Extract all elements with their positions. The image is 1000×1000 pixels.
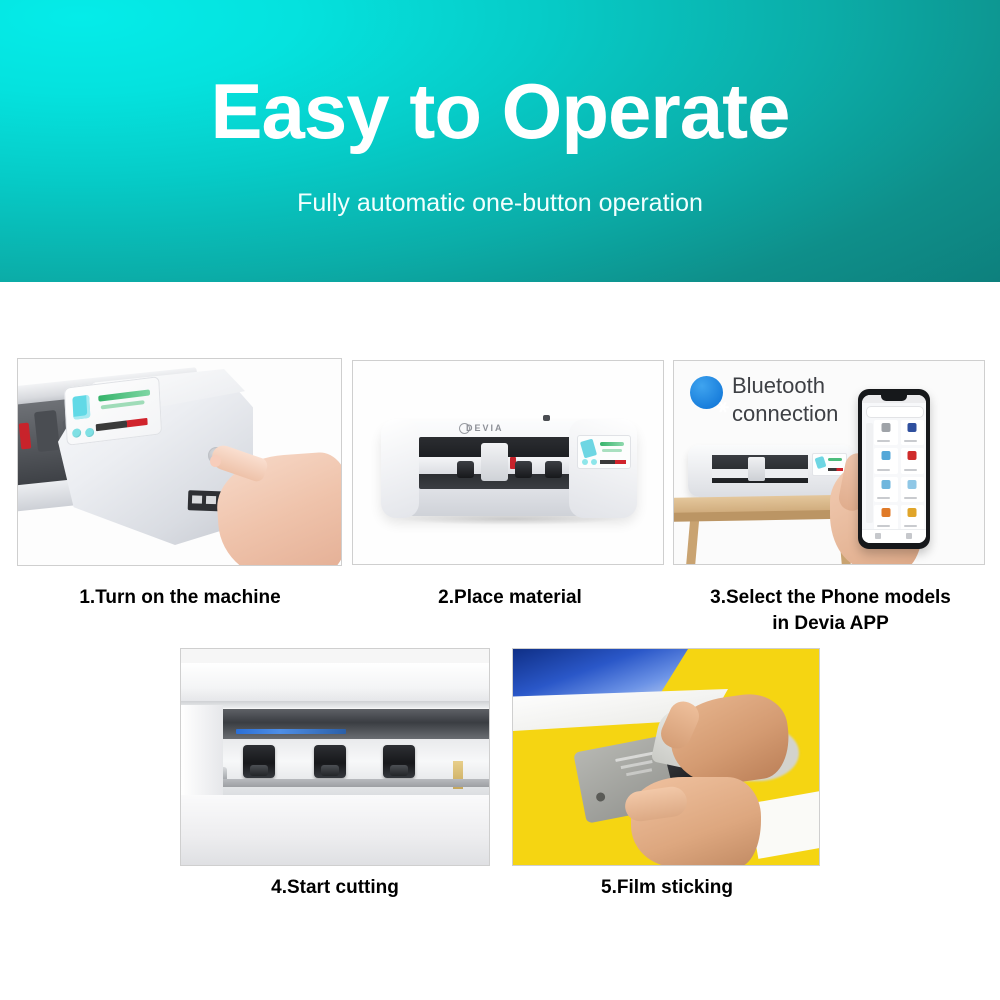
bluetooth-glyph: ⚹	[717, 397, 729, 418]
display-button-left	[582, 459, 588, 465]
step-image-5	[512, 648, 820, 866]
step-image-3: ⚹ Bluetooth connection	[673, 360, 985, 565]
roller-2	[515, 461, 532, 478]
phone-notch	[881, 395, 907, 401]
model-label	[877, 497, 890, 499]
pinch-roller-3	[383, 745, 415, 778]
machine-lower-face	[181, 795, 490, 865]
phone-model-grid	[874, 420, 924, 530]
scene-bluetooth-phone: ⚹ Bluetooth connection	[674, 361, 984, 564]
promo-page: Easy to Operate Fully automatic one-butt…	[0, 0, 1000, 1000]
top-knob	[543, 415, 550, 421]
step-image-2: DEVIA	[352, 360, 664, 565]
roller-core	[250, 765, 268, 776]
model-thumb-icon	[908, 451, 917, 460]
display-brand-label	[600, 460, 626, 464]
model-label	[877, 525, 890, 527]
app-nav-bar	[862, 529, 926, 543]
phone-icon	[815, 456, 827, 469]
roller-core	[321, 765, 339, 776]
model-cell	[901, 505, 925, 530]
roller-1	[457, 461, 474, 478]
pinch-roller-1	[243, 745, 275, 778]
display-brand-label	[96, 418, 148, 431]
bluetooth-overlay-line-1: Bluetooth	[732, 373, 825, 399]
model-thumb-icon	[908, 480, 917, 489]
roller-3	[545, 461, 562, 478]
step-caption-4: 4.Start cutting	[175, 875, 495, 901]
model-cell	[874, 420, 898, 445]
machine-top-edge	[181, 701, 490, 708]
step-caption-2: 2.Place material	[350, 585, 670, 611]
model-thumb-icon	[881, 423, 890, 432]
film-print-line	[621, 760, 653, 769]
model-cell	[901, 448, 925, 473]
display-text-line-secondary	[101, 400, 145, 409]
model-thumb-icon	[881, 451, 890, 460]
model-label	[904, 497, 917, 499]
app-search-field	[866, 406, 924, 418]
bluetooth-icon: ⚹	[690, 376, 723, 409]
page-title: Easy to Operate	[0, 72, 1000, 150]
pinch-roller-2	[314, 745, 346, 778]
step-caption-1: 1.Turn on the machine	[10, 585, 350, 611]
machine-side-panel	[181, 705, 223, 801]
cutting-carriage	[748, 457, 765, 481]
machine-display-panel	[64, 376, 162, 446]
brand-label: DEVIA	[466, 423, 528, 432]
guide-bar	[199, 779, 490, 787]
phone-icon	[580, 439, 597, 459]
model-thumb-icon	[881, 508, 890, 517]
model-cell	[901, 420, 925, 445]
scene-cutting-rollers	[181, 649, 489, 865]
blue-label-strip	[236, 729, 346, 734]
display-button-left	[72, 428, 81, 438]
display-text-line	[828, 458, 842, 461]
model-cell	[874, 477, 898, 502]
model-cell	[874, 448, 898, 473]
scene-machine-front: DEVIA	[353, 361, 663, 564]
film-print-line	[626, 768, 652, 776]
model-label	[877, 440, 890, 442]
cutting-carriage	[481, 443, 508, 481]
display-text-line	[600, 442, 624, 446]
model-label	[877, 469, 890, 471]
roller-core	[390, 765, 408, 776]
nav-icon-home	[875, 533, 881, 539]
phone-icon	[72, 395, 90, 420]
app-side-tabs	[866, 423, 873, 523]
step-caption-5: 5.Film sticking	[508, 875, 826, 901]
model-label	[904, 525, 917, 527]
bluetooth-overlay-line-2: connection	[732, 401, 838, 427]
model-label	[904, 440, 917, 442]
step-caption-3: 3.Select the Phone models in Devia APP	[668, 585, 993, 637]
nav-icon-profile	[906, 533, 912, 539]
machine-display-panel	[577, 435, 631, 469]
scene-machine-power-button	[18, 359, 341, 565]
usb-port-2	[206, 496, 216, 504]
model-cell	[901, 477, 925, 502]
rail-channel	[221, 709, 490, 739]
display-text-line-secondary	[602, 449, 622, 452]
model-thumb-icon	[908, 508, 917, 517]
machine-mechanism	[34, 410, 60, 452]
usb-port-1	[192, 495, 202, 503]
display-button-right	[85, 427, 94, 437]
machine-endcap-left	[381, 419, 419, 518]
step-image-1	[17, 358, 342, 566]
scene-film-sticking	[513, 649, 819, 865]
model-label	[904, 469, 917, 471]
phone-screen	[862, 395, 926, 543]
step-image-4	[180, 648, 490, 866]
page-subtitle: Fully automatic one-button operation	[0, 188, 1000, 218]
model-thumb-icon	[908, 423, 917, 432]
film-camera-cutout	[595, 792, 606, 803]
display-brand-label	[828, 468, 843, 471]
model-thumb-icon	[881, 480, 890, 489]
hero-banner: Easy to Operate Fully automatic one-butt…	[0, 0, 1000, 282]
display-button-right	[591, 459, 597, 465]
model-cell	[874, 505, 898, 530]
